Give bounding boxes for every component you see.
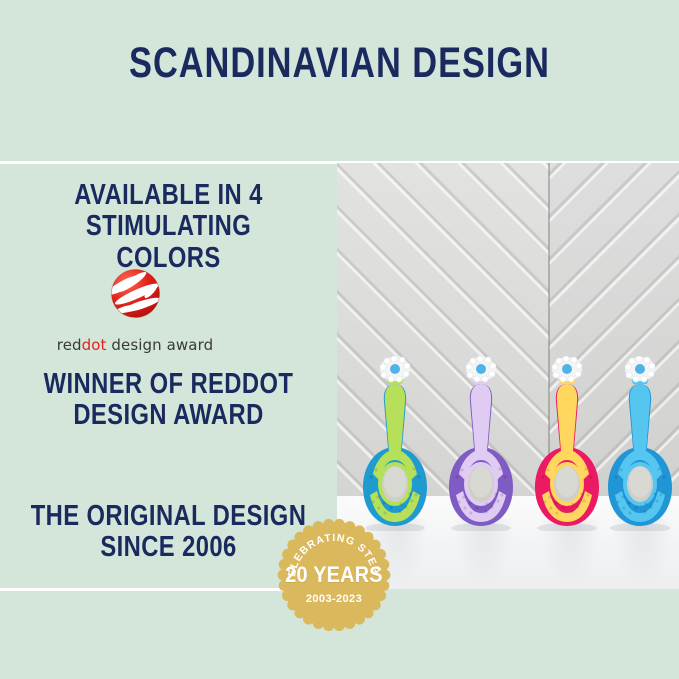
infographic-page: SCANDINAVIAN DESIGN AVAILABLE IN 4 STIMU…	[0, 0, 679, 679]
reddot-award-logo: reddot design award	[0, 268, 270, 354]
badge-headline: 20 YEARS	[279, 562, 389, 588]
toothbrush-blue-lightblue	[602, 356, 678, 531]
reddot-word-red: red	[57, 336, 82, 354]
header-band: SCANDINAVIAN DESIGN	[0, 0, 679, 162]
bristles	[552, 356, 582, 382]
toothbrush-lavender-purple	[443, 356, 519, 531]
reddot-sphere-icon	[110, 268, 161, 319]
anniversary-badge: CELEBRATING STEP 1 20 YEARS 2003-2023	[273, 514, 395, 636]
toothbrush-green-blue	[357, 356, 433, 531]
reddot-word-dot: dot	[82, 336, 107, 354]
bristles	[466, 356, 496, 382]
colors-claim-text: AVAILABLE IN 4 STIMULATING COLORS	[30, 180, 306, 274]
page-title: SCANDINAVIAN DESIGN	[68, 42, 611, 85]
bristles	[380, 356, 410, 382]
original-claim-text: THE ORIGINAL DESIGN SINCE 2006	[30, 501, 306, 564]
reddot-word-rest: design award	[107, 336, 214, 354]
toothbrush-yellow-pink	[529, 356, 605, 531]
badge-years: 2003-2023	[273, 593, 395, 605]
bristles	[625, 356, 655, 382]
reddot-wordmark: reddot design award	[0, 336, 270, 354]
award-claim-text: WINNER OF REDDOT DESIGN AWARD	[30, 369, 306, 432]
